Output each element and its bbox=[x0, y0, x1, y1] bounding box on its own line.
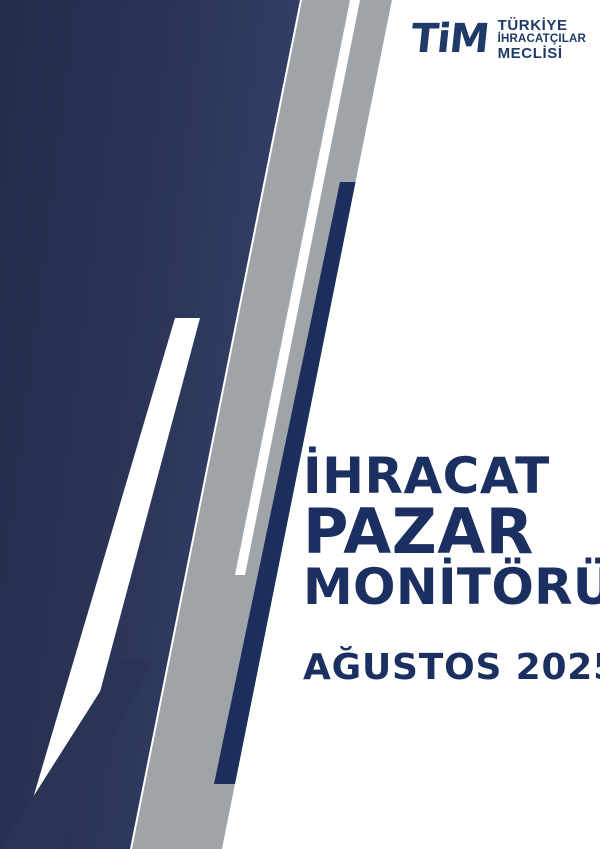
logo-line-ihracatcilar: İHRACATÇILAR bbox=[498, 34, 586, 46]
navy-slash-lower bbox=[0, 660, 152, 849]
gray-diagonal-band bbox=[132, 0, 392, 849]
tim-logo: TiM TÜRKİYE İHRACATÇILAR MECLİSİ bbox=[411, 18, 586, 61]
title-line-ihracat: İHRACAT bbox=[303, 452, 600, 500]
tim-logo-mark: TiM bbox=[409, 21, 490, 58]
logo-line-meclisi: MECLİSİ bbox=[498, 46, 586, 62]
report-cover: TiM TÜRKİYE İHRACATÇILAR MECLİSİ İHRACAT… bbox=[0, 0, 600, 849]
title-line-pazar: PAZAR bbox=[303, 502, 600, 562]
cover-title-block: İHRACAT PAZAR MONİTÖRÜ AĞUSTOS 2025 bbox=[303, 452, 600, 688]
navy-background-panel bbox=[0, 0, 300, 849]
tim-logo-wordmark: TÜRKİYE İHRACATÇILAR MECLİSİ bbox=[498, 18, 586, 61]
white-corner-top-right bbox=[222, 0, 600, 849]
white-slash-inner bbox=[18, 318, 200, 849]
cover-subtitle-date: AĞUSTOS 2025 bbox=[303, 647, 600, 688]
logo-line-turkiye: TÜRKİYE bbox=[498, 18, 586, 34]
title-line-monitoru: MONİTÖRÜ bbox=[303, 563, 600, 611]
cover-background-art bbox=[0, 0, 600, 849]
